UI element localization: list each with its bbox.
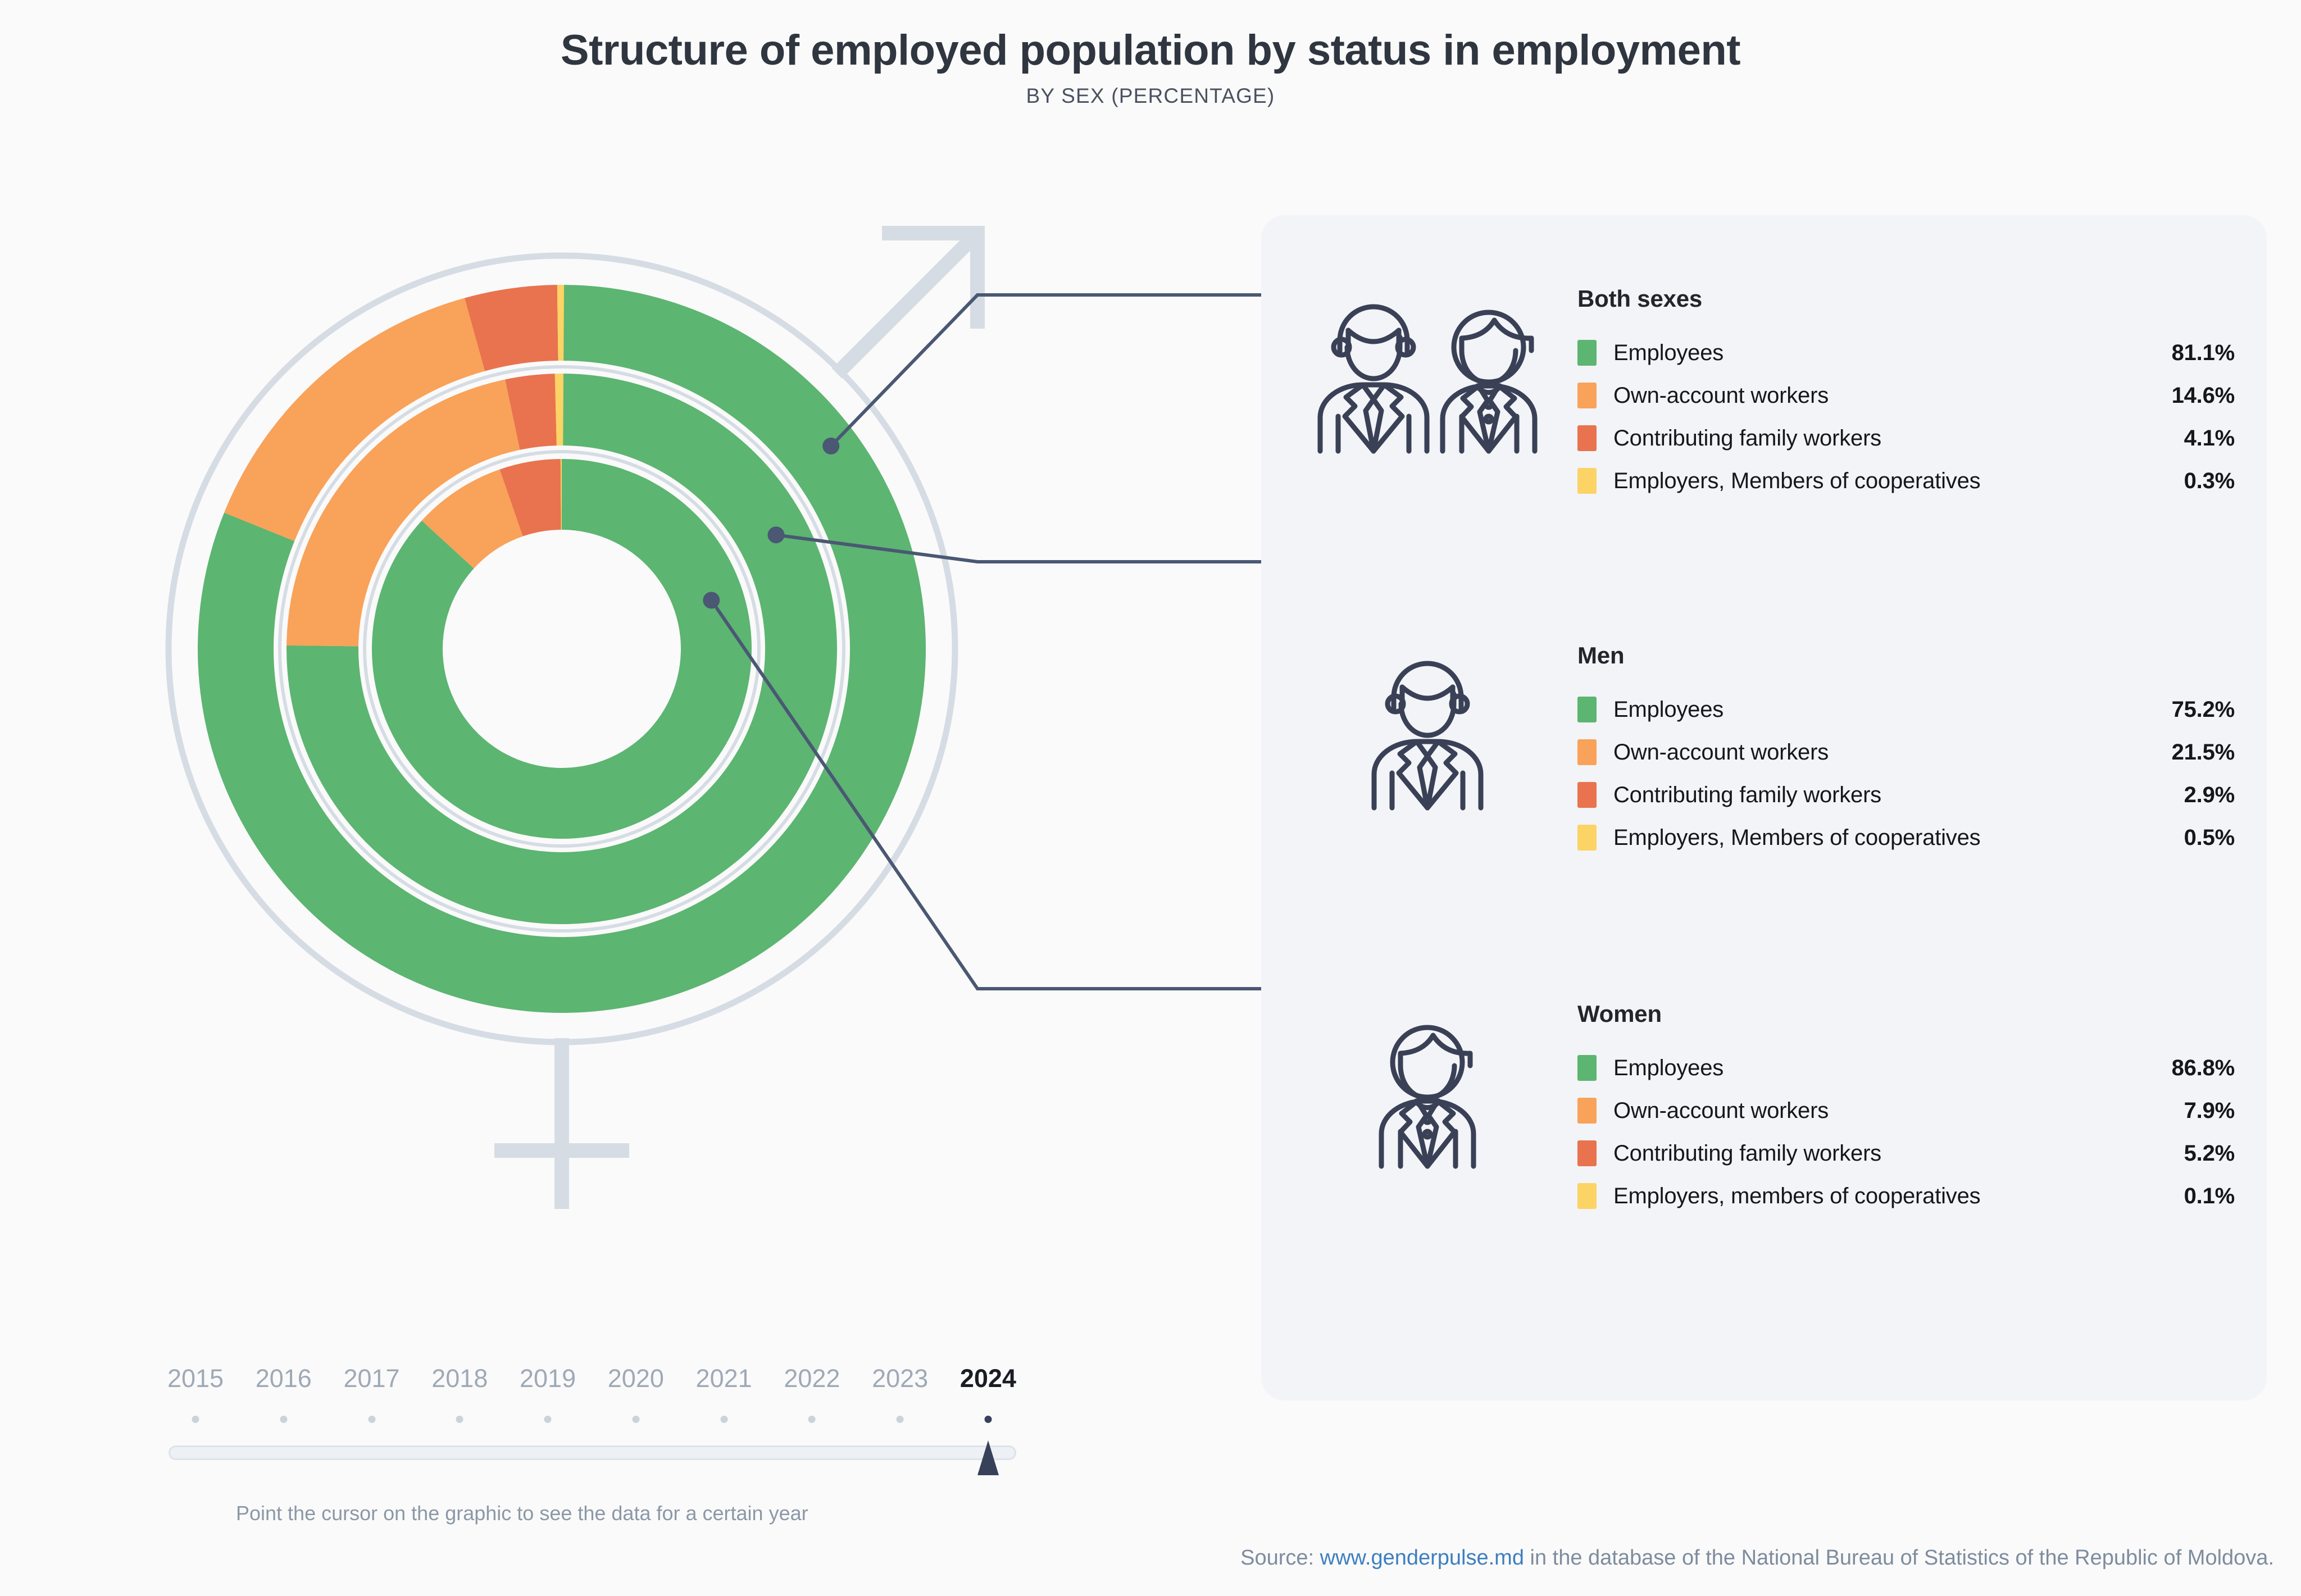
- year-tick-2020[interactable]: [632, 1416, 639, 1423]
- legend-label: Employees: [1613, 1056, 1724, 1081]
- year-tick-2021[interactable]: [720, 1416, 727, 1423]
- legend-value: 81.1%: [2157, 340, 2235, 366]
- year-tick-2016[interactable]: [280, 1416, 287, 1423]
- legend-group-title: Women: [1577, 1001, 2235, 1027]
- legend-label: Employers, Members of cooperatives: [1613, 469, 1980, 494]
- page-title: Structure of employed population by stat…: [0, 29, 2301, 72]
- legend-value: 2.9%: [2170, 783, 2235, 808]
- legend-body-both-sexes: Both sexes Employees 81.1% Own-account w…: [1577, 285, 2235, 502]
- legend-value: 0.3%: [2170, 469, 2235, 494]
- legend-value: 86.8%: [2157, 1056, 2235, 1081]
- year-label-2024[interactable]: 2024: [960, 1364, 1016, 1393]
- legend-label: Employees: [1613, 697, 1724, 722]
- legend-label: Employees: [1613, 340, 1724, 366]
- year-tick-2023[interactable]: [897, 1416, 904, 1423]
- color-swatch-contributing-family: [1577, 1140, 1597, 1166]
- year-tick-2015[interactable]: [192, 1416, 199, 1423]
- venus-symbol-icon: [494, 1038, 629, 1209]
- legend-row[interactable]: Employees 75.2%: [1577, 688, 2235, 731]
- legend-row[interactable]: Own-account workers 14.6%: [1577, 374, 2235, 417]
- year-label-2017[interactable]: 2017: [343, 1364, 399, 1393]
- legend-value: 21.5%: [2157, 740, 2235, 765]
- legend-row[interactable]: Employees 86.8%: [1577, 1047, 2235, 1089]
- legend-label: Contributing family workers: [1613, 426, 1881, 451]
- year-label-2015[interactable]: 2015: [167, 1364, 224, 1393]
- color-swatch-employers: [1577, 825, 1597, 851]
- infographic-page: Structure of employed population by stat…: [0, 0, 2301, 1596]
- color-swatch-own-account: [1577, 383, 1597, 408]
- color-swatch-contributing-family: [1577, 425, 1597, 451]
- source-prefix: Source:: [1240, 1546, 1320, 1570]
- legend-row[interactable]: Employers, members of cooperatives 0.1%: [1577, 1175, 2235, 1217]
- color-swatch-employees: [1577, 340, 1597, 366]
- legend-row[interactable]: Employers, Members of cooperatives 0.3%: [1577, 460, 2235, 502]
- woman-avatar-icon: [1367, 1006, 1488, 1172]
- legend-body-men: Men Employees 75.2% Own-account workers …: [1577, 642, 2235, 859]
- legend-value: 4.1%: [2170, 426, 2235, 451]
- year-tick-2017[interactable]: [368, 1416, 375, 1423]
- legend-label: Employers, Members of cooperatives: [1613, 825, 1980, 851]
- legend-row[interactable]: Contributing family workers 4.1%: [1577, 417, 2235, 460]
- legend-value: 14.6%: [2157, 383, 2235, 408]
- color-swatch-employees: [1577, 1055, 1597, 1081]
- year-timeline[interactable]: 2015201620172018201920202021202220232024…: [169, 1364, 1067, 1510]
- year-label-2021[interactable]: 2021: [696, 1364, 752, 1393]
- year-tick-2022[interactable]: [808, 1416, 816, 1423]
- legend-body-women: Women Employees 86.8% Own-account worker…: [1577, 1001, 2235, 1217]
- year-tick-2018[interactable]: [456, 1416, 463, 1423]
- year-tick-2024[interactable]: [984, 1416, 992, 1423]
- legend-value: 5.2%: [2170, 1141, 2235, 1166]
- color-swatch-employers: [1577, 468, 1597, 494]
- color-swatch-own-account: [1577, 739, 1597, 765]
- legend-label: Own-account workers: [1613, 383, 1829, 408]
- legend-row[interactable]: Contributing family workers 5.2%: [1577, 1132, 2235, 1175]
- color-swatch-contributing-family: [1577, 782, 1597, 808]
- year-ticks: [169, 1412, 1067, 1429]
- legend-label: Employers, members of cooperatives: [1613, 1184, 1980, 1209]
- color-swatch-own-account: [1577, 1098, 1597, 1124]
- year-label-2022[interactable]: 2022: [784, 1364, 840, 1393]
- year-label-2019[interactable]: 2019: [520, 1364, 576, 1393]
- legend-row[interactable]: Contributing family workers 2.9%: [1577, 774, 2235, 816]
- legend-label: Contributing family workers: [1613, 783, 1881, 808]
- legend-value: 7.9%: [2170, 1098, 2235, 1124]
- timeline-track[interactable]: [169, 1445, 1016, 1460]
- legend-row[interactable]: Own-account workers 21.5%: [1577, 731, 2235, 774]
- timeline-handle[interactable]: [977, 1440, 999, 1475]
- legend-group-title: Men: [1577, 642, 2235, 669]
- legend-row[interactable]: Employees 81.1%: [1577, 331, 2235, 374]
- source-footer: Source: www.genderpulse.md in the databa…: [1240, 1546, 2274, 1570]
- year-labels: 2015201620172018201920202021202220232024: [169, 1364, 1067, 1400]
- color-swatch-employers: [1577, 1183, 1597, 1209]
- multi-ring-donut-chart[interactable]: [96, 180, 1275, 1359]
- legend-value: 0.5%: [2170, 825, 2235, 851]
- legend-row[interactable]: Employers, Members of cooperatives 0.5%: [1577, 816, 2235, 859]
- legend-value: 75.2%: [2157, 697, 2235, 722]
- legend-group-title: Both sexes: [1577, 285, 2235, 312]
- color-swatch-employees: [1577, 697, 1597, 722]
- callout-dot: [822, 438, 839, 454]
- year-label-2020[interactable]: 2020: [608, 1364, 664, 1393]
- legend-label: Own-account workers: [1613, 740, 1829, 765]
- year-label-2018[interactable]: 2018: [431, 1364, 488, 1393]
- donut-segment[interactable]: [557, 285, 564, 361]
- legend-label: Contributing family workers: [1613, 1141, 1881, 1166]
- callout-dot: [767, 526, 784, 543]
- timeline-hint: Point the cursor on the graphic to see t…: [236, 1502, 808, 1525]
- legend-panel: Both sexes Employees 81.1% Own-account w…: [1261, 215, 2267, 1401]
- header: Structure of employed population by stat…: [0, 29, 2301, 108]
- callout-dot: [703, 592, 720, 608]
- couple-avatar-icon: [1309, 291, 1550, 457]
- year-tick-2019[interactable]: [544, 1416, 552, 1423]
- year-label-2023[interactable]: 2023: [872, 1364, 928, 1393]
- legend-label: Own-account workers: [1613, 1098, 1829, 1124]
- man-avatar-icon: [1367, 648, 1488, 813]
- donut-rings: [198, 285, 926, 1013]
- mars-symbol-icon: [837, 233, 977, 374]
- legend-value: 0.1%: [2170, 1184, 2235, 1209]
- source-suffix: in the database of the National Bureau o…: [1524, 1546, 2274, 1570]
- donut-chart-area: [96, 180, 1275, 1359]
- legend-row[interactable]: Own-account workers 7.9%: [1577, 1089, 2235, 1132]
- year-label-2016[interactable]: 2016: [256, 1364, 312, 1393]
- source-link[interactable]: www.genderpulse.md: [1320, 1546, 1524, 1570]
- page-subtitle: BY SEX (PERCENTAGE): [0, 84, 2301, 108]
